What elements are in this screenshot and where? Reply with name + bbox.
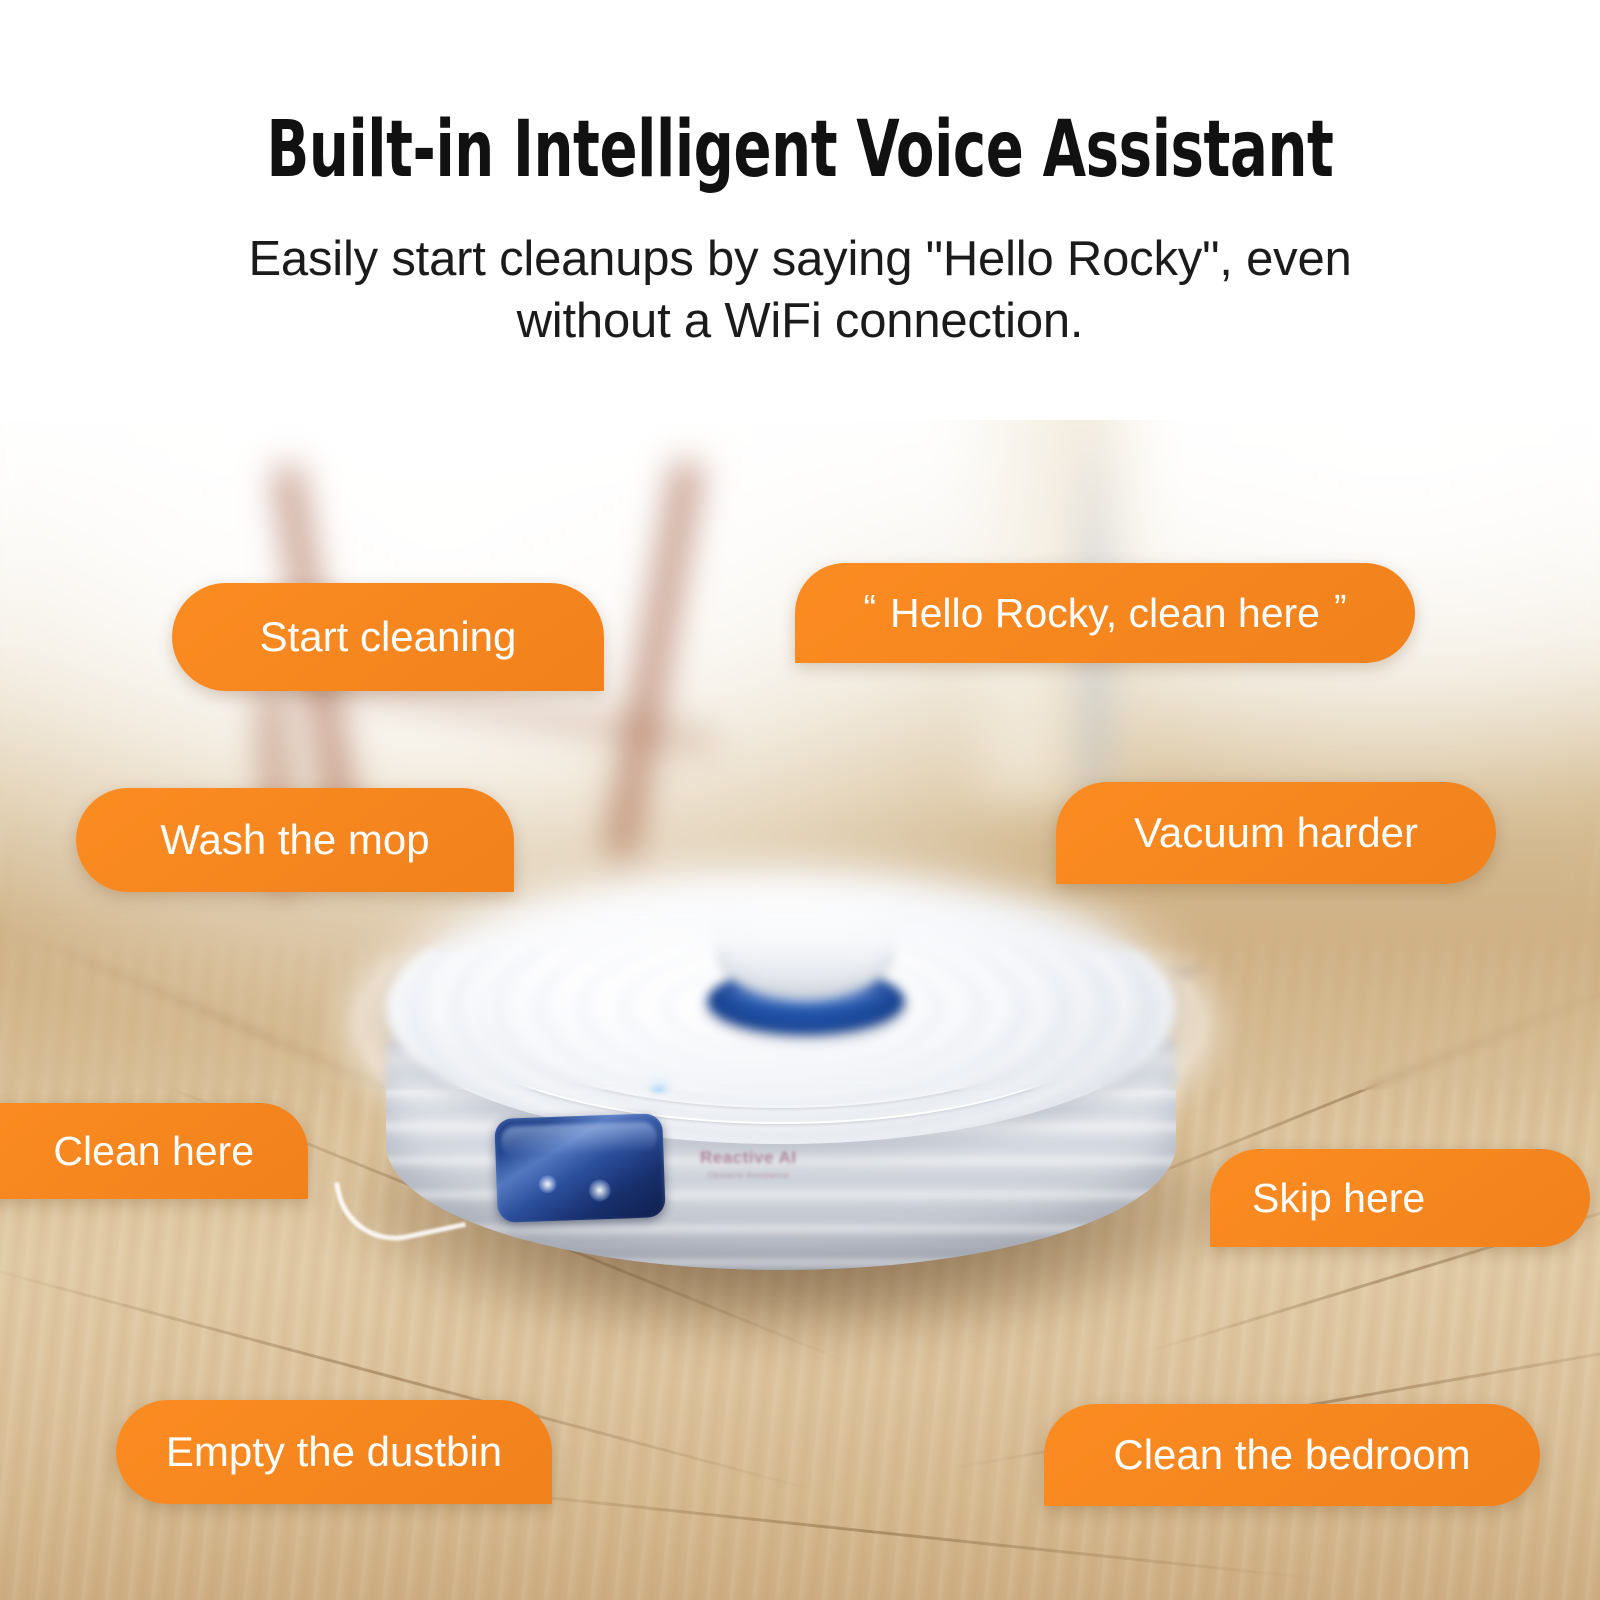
product-brand-label: Reactive AI <box>700 1148 797 1168</box>
product-feature-page: Built-in Intelligent Voice Assistant Eas… <box>0 0 1600 1600</box>
voice-command-label: Clean here <box>53 1128 254 1175</box>
status-led-indicator <box>648 1082 670 1094</box>
voice-command-label: Clean the bedroom <box>1113 1431 1470 1479</box>
header-block: Built-in Intelligent Voice Assistant Eas… <box>0 0 1600 420</box>
quote-close-icon: ” <box>1334 590 1347 628</box>
voice-command-bubble-start-cleaning[interactable]: Start cleaning <box>172 583 604 691</box>
voice-command-label: Wash the mop <box>160 816 429 864</box>
voice-command-label: Skip here <box>1252 1175 1425 1222</box>
voice-command-bubble-vacuum-harder[interactable]: Vacuum harder <box>1056 782 1496 884</box>
product-brandmark: Reactive AI Obstacle Avoidance <box>700 1148 797 1180</box>
quote-open-icon: “ <box>863 590 876 628</box>
voice-command-label: Hello Rocky, clean here <box>890 590 1320 637</box>
page-subtitle-line-1: Easily start cleanups by saying "Hello R… <box>150 228 1450 290</box>
page-subtitle: Easily start cleanups by saying "Hello R… <box>150 228 1450 352</box>
voice-command-label: Start cleaning <box>260 613 517 661</box>
voice-command-label: Vacuum harder <box>1134 809 1418 857</box>
sensor-glass-reflection <box>501 1121 658 1156</box>
sensor-lens <box>588 1179 611 1202</box>
voice-command-bubble-wash-the-mop[interactable]: Wash the mop <box>76 788 514 892</box>
voice-command-bubble-clean-here[interactable]: Clean here <box>0 1103 308 1199</box>
lidar-turret-cap <box>716 904 894 1000</box>
page-title: Built-in Intelligent Voice Assistant <box>160 104 1440 196</box>
voice-command-label: Empty the dustbin <box>166 1428 502 1476</box>
voice-command-bubble-clean-the-bedroom[interactable]: Clean the bedroom <box>1044 1404 1540 1506</box>
sensor-lens <box>538 1175 557 1194</box>
voice-command-bubble-skip-here[interactable]: Skip here <box>1210 1149 1590 1247</box>
product-brand-sublabel: Obstacle Avoidance <box>700 1171 797 1180</box>
front-camera-sensor-panel <box>494 1113 666 1223</box>
voice-command-bubble-hello-rocky[interactable]: “ Hello Rocky, clean here ” <box>795 563 1415 663</box>
page-subtitle-line-2: without a WiFi connection. <box>150 290 1450 352</box>
voice-command-bubble-empty-the-dustbin[interactable]: Empty the dustbin <box>116 1400 552 1504</box>
brand-logo-icon <box>1168 966 1212 992</box>
robot-vacuum: Reactive AI Obstacle Avoidance <box>330 850 1230 1340</box>
